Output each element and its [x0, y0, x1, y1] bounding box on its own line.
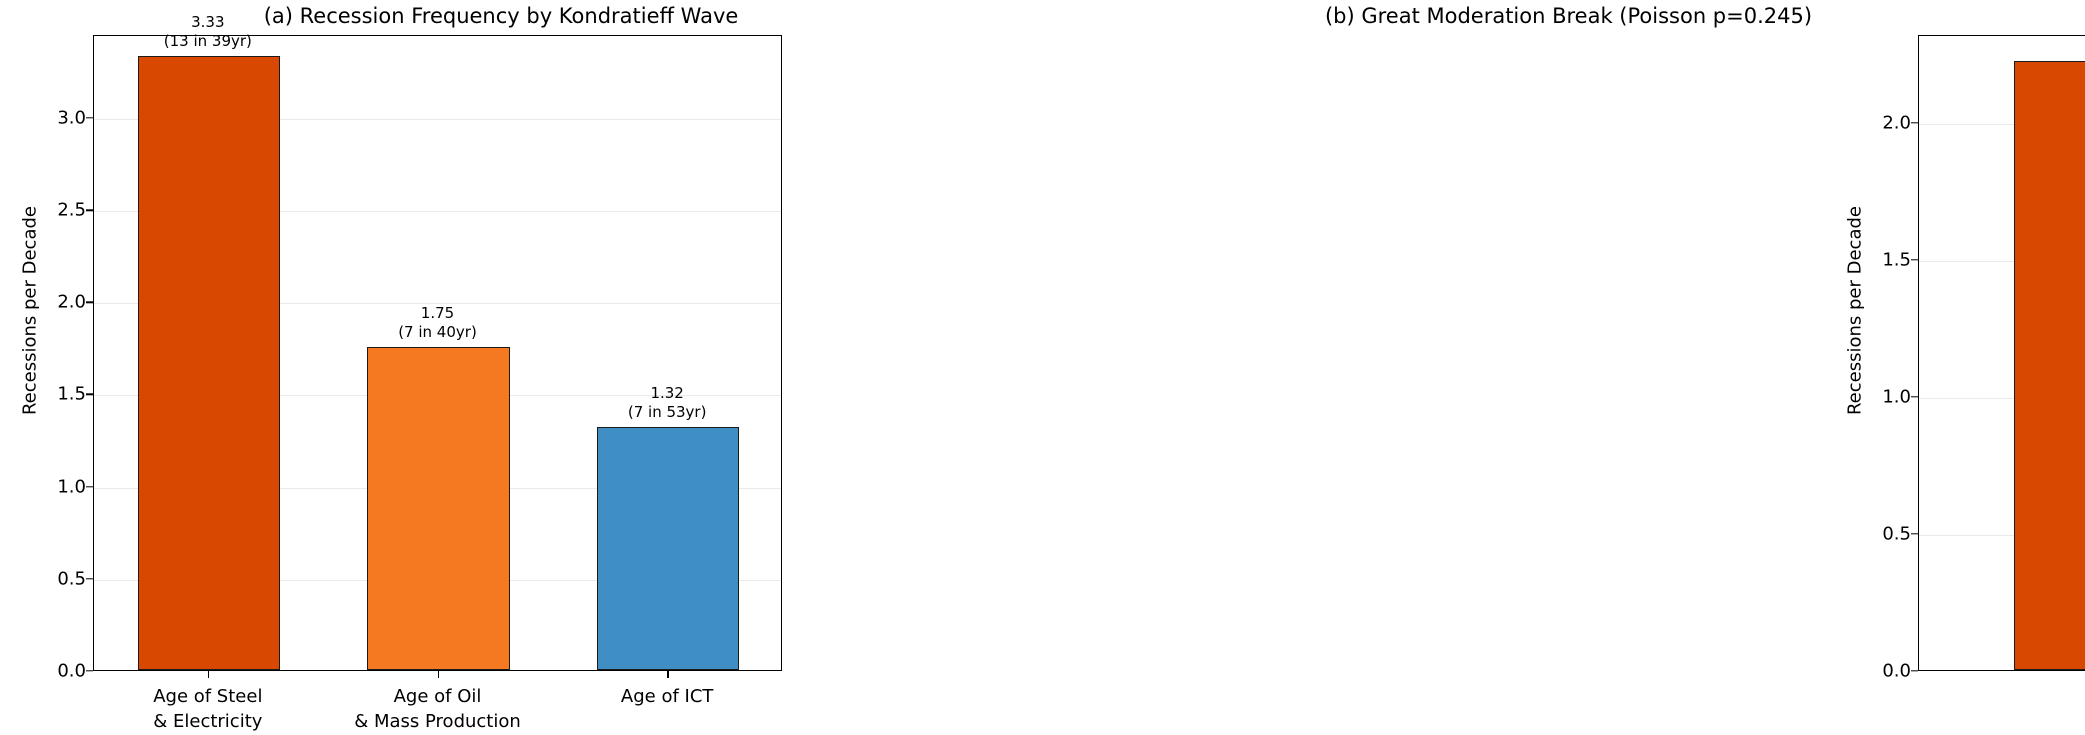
x-tick-mark — [438, 671, 439, 678]
y-tick-mark — [86, 117, 93, 118]
y-tick-mark — [1911, 396, 1918, 397]
panel-b-plot-area — [1918, 35, 2085, 671]
x-tick-mark — [667, 671, 668, 678]
y-tick-label: 1.5 — [36, 384, 86, 405]
y-tick-mark — [86, 578, 93, 579]
y-tick-label: 1.0 — [36, 476, 86, 497]
panel-b-title: (b) Great Moderation Break (Poisson p=0.… — [1052, 4, 2085, 28]
panel-b-bars — [1919, 36, 2085, 670]
panel-b: (b) Great Moderation Break (Poisson p=0.… — [1042, 0, 2085, 735]
y-tick-label: 1.0 — [1861, 386, 1911, 407]
y-tick-mark — [86, 394, 93, 395]
x-tick-label: Pre-1984 (1948-1984) — [2018, 684, 2085, 734]
y-tick-mark — [86, 486, 93, 487]
bar-value-label: 1.32 (7 in 53yr) — [487, 384, 847, 422]
y-tick-label: 0.0 — [1861, 661, 1911, 682]
bar[interactable] — [2014, 61, 2085, 670]
y-tick-label: 1.5 — [1861, 249, 1911, 270]
y-tick-mark — [86, 302, 93, 303]
figure: (a) Recession Frequency by Kondratieff W… — [0, 0, 2085, 735]
y-tick-mark — [86, 209, 93, 210]
bar[interactable] — [138, 56, 280, 670]
y-tick-label: 3.0 — [36, 107, 86, 128]
y-tick-label: 2.0 — [1861, 112, 1911, 133]
panel-a: (a) Recession Frequency by Kondratieff W… — [0, 0, 1042, 735]
panel-a-plot-area — [93, 35, 782, 671]
y-tick-mark — [1911, 533, 1918, 534]
y-tick-label: 2.5 — [36, 200, 86, 221]
y-tick-label: 0.0 — [36, 661, 86, 682]
y-tick-label: 2.0 — [36, 292, 86, 313]
bar-value-label: 3.33 (13 in 39yr) — [28, 13, 388, 51]
y-tick-mark — [86, 670, 93, 671]
bar[interactable] — [597, 427, 739, 670]
bar-value-label: 2.22/decade — [2018, 37, 2085, 56]
y-tick-label: 0.5 — [36, 568, 86, 589]
y-tick-label: 0.5 — [1861, 523, 1911, 544]
x-tick-label: Age of ICT — [487, 684, 847, 709]
y-tick-mark — [1911, 122, 1918, 123]
x-tick-mark — [208, 671, 209, 678]
y-tick-mark — [1911, 670, 1918, 671]
bar-value-label: 1.75 (7 in 40yr) — [258, 304, 618, 342]
y-tick-mark — [1911, 259, 1918, 260]
panel-a-bars — [94, 36, 781, 670]
